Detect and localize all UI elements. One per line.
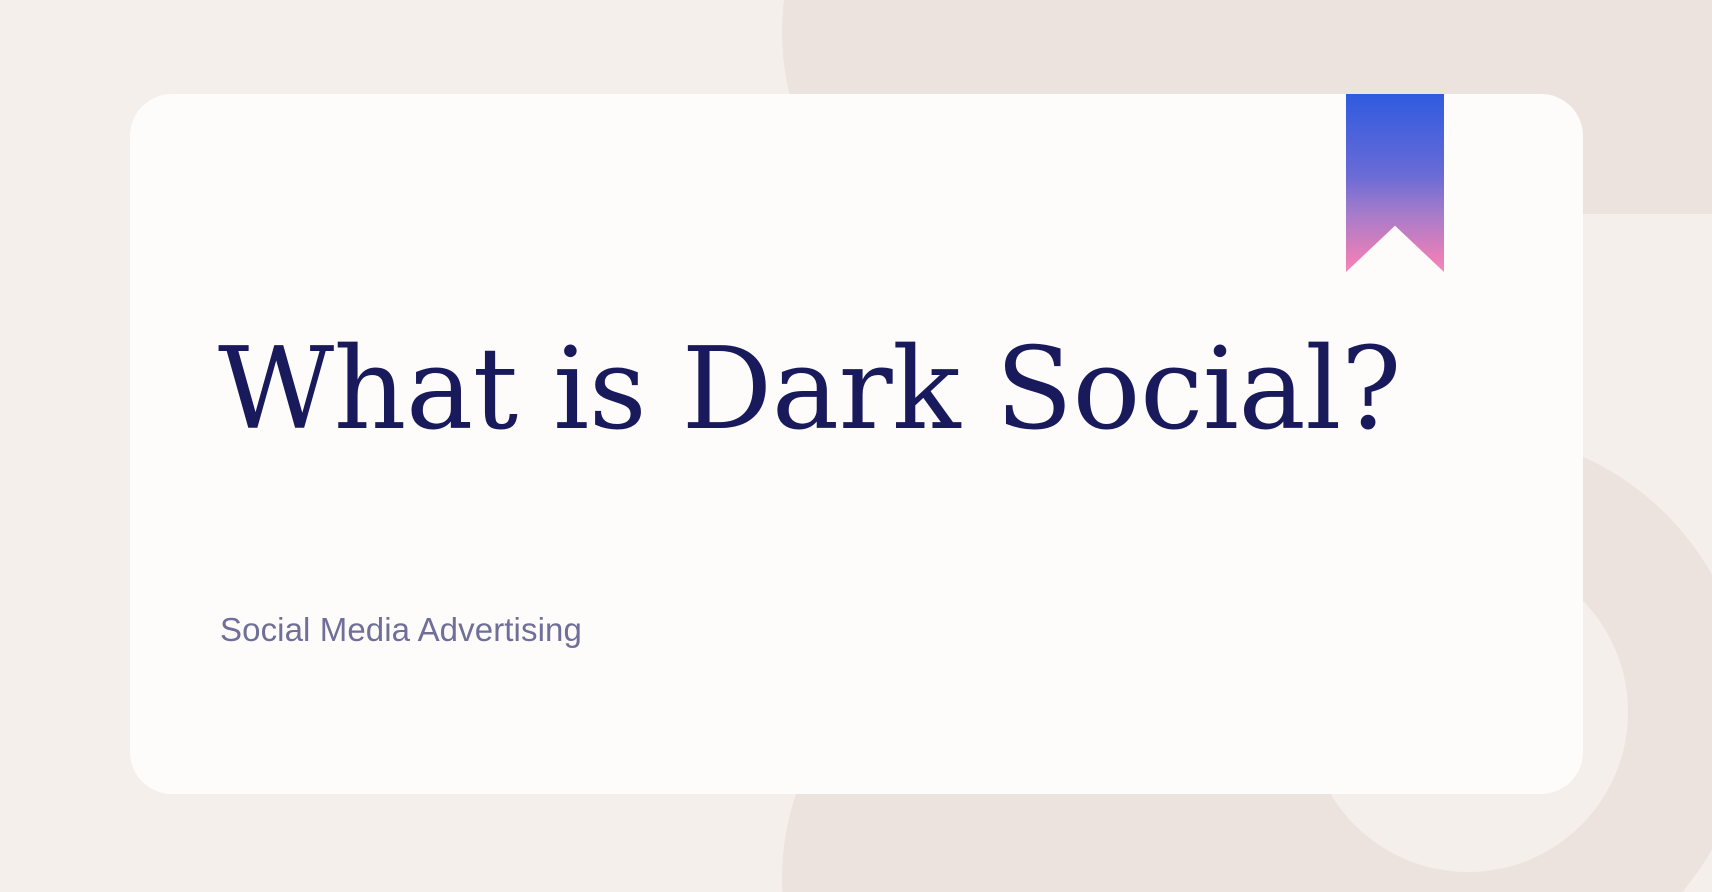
content-card: What is Dark Social? Social Media Advert… [130,94,1583,794]
slide-canvas: What is Dark Social? Social Media Advert… [0,0,1712,892]
card-text-block: What is Dark Social? Social Media Advert… [218,94,1458,794]
page-title: What is Dark Social? [218,330,1401,449]
page-subtitle: Social Media Advertising [220,610,582,650]
